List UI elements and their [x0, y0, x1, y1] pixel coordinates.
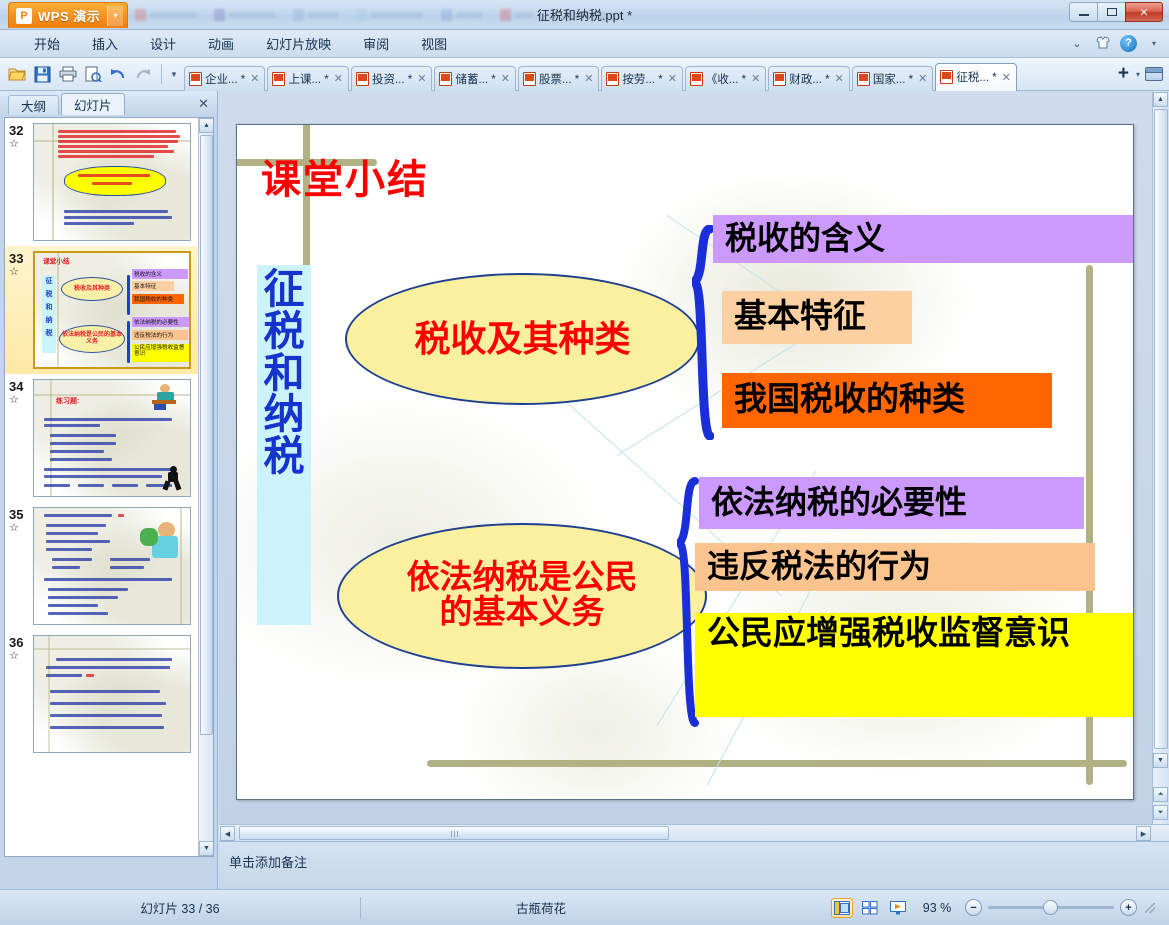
animation-star-icon: ☆ [9, 138, 33, 151]
thumbnail-image-35 [33, 507, 191, 625]
menu-item-start[interactable]: 开始 [18, 31, 76, 56]
brace-top [692, 225, 709, 440]
theme-name: 古瓶荷花 [361, 898, 721, 917]
notes-pane[interactable]: 单击添加备注 [219, 841, 1169, 889]
title-bar: P WPS 演示 ▾ 征税和纳税.ppt * ✕ [0, 0, 1169, 30]
doc-tab-0[interactable]: 企业... * ✕ [184, 66, 265, 91]
toolbar-separator [161, 64, 162, 84]
menu-item-slideshow[interactable]: 幻灯片放映 [250, 31, 347, 56]
customize-caret-icon[interactable]: ▼ [167, 70, 181, 79]
doc-tab-label: 按劳... * [622, 71, 662, 87]
doc-tab-label: 征税... * [956, 69, 996, 85]
menu-bar: 开始 插入 设计 动画 幻灯片放映 审阅 视图 ⌄ ? ▾ [0, 30, 1169, 58]
animation-star-icon: ☆ [9, 522, 33, 535]
slideshow-icon[interactable] [887, 898, 909, 918]
slide-scroll-down-button[interactable]: ▼ [1153, 753, 1168, 768]
document-tab-strip: 企业... * ✕ 上课... * ✕ 投资... * ✕ 储蓄... * ✕ … [184, 58, 1019, 91]
ellipse-tax-types[interactable]: 税收及其种类 [345, 273, 700, 405]
slide-scroll-left-button[interactable]: ◀ [220, 826, 235, 841]
skin-icon[interactable] [1094, 34, 1112, 52]
slide-title[interactable]: 课堂小结 [261, 147, 429, 205]
doc-tab-2[interactable]: 投资... * ✕ [351, 66, 432, 91]
slide-sorter-icon[interactable] [859, 898, 881, 918]
menu-item-design[interactable]: 设计 [134, 31, 192, 56]
slide-editing-area: 课堂小结 征税和纳税 税收及其种类 依法纳税是公民的基本义务 税收的含义 基本特… [219, 91, 1169, 841]
doc-tab-1[interactable]: 上课... * ✕ [267, 66, 348, 91]
ppt-file-icon [773, 72, 786, 86]
chevron-down-icon[interactable]: ⌄ [1068, 34, 1086, 52]
doc-tab-5[interactable]: 按劳... * ✕ [601, 66, 682, 91]
redo-icon[interactable] [131, 63, 154, 86]
zoom-slider[interactable] [988, 906, 1114, 909]
undo-icon[interactable] [106, 63, 129, 86]
thumbnail-row-32[interactable]: 32 ☆ [5, 118, 199, 246]
quick-access-toolbar: ▼ 企业... * ✕ 上课... * ✕ 投资... * ✕ 储蓄... * … [0, 58, 1169, 91]
minimize-button[interactable] [1069, 2, 1098, 22]
box-basic-features[interactable]: 基本特征 [722, 291, 912, 344]
animation-star-icon: ☆ [9, 266, 33, 279]
ppt-file-icon [857, 72, 870, 86]
current-slide[interactable]: 课堂小结 征税和纳税 税收及其种类 依法纳税是公民的基本义务 税收的含义 基本特… [236, 124, 1134, 800]
doc-tab-label: 《收... * [706, 71, 746, 87]
ppt-file-icon [940, 70, 953, 84]
thumbnail-rows: 32 ☆ [5, 118, 199, 758]
print-preview-icon[interactable] [81, 63, 104, 86]
box-tax-definition[interactable]: 税收的含义 [713, 215, 1133, 263]
menu-bar-right-tools: ⌄ ? ▾ [1068, 34, 1163, 52]
zoom-in-button[interactable]: + [1120, 899, 1137, 916]
thumbnail-image-32 [33, 123, 191, 241]
thumb-number: 32 [9, 123, 23, 138]
thumb-number: 35 [9, 507, 23, 522]
ppt-file-icon [189, 72, 202, 86]
ppt-file-icon [606, 72, 619, 86]
thumb-scroll-down-button[interactable]: ▼ [199, 841, 214, 856]
panel-close-icon[interactable]: ✕ [198, 96, 209, 112]
slide-counter: 幻灯片 33 / 36 [0, 898, 360, 917]
save-icon[interactable] [31, 63, 54, 86]
box-tax-categories[interactable]: 我国税收的种类 [722, 373, 1052, 428]
window-controls: ✕ [1070, 2, 1163, 22]
thumbnail-image-34: 练习题: [33, 379, 191, 497]
menu-item-view[interactable]: 视图 [405, 31, 463, 56]
doc-tab-close-icon[interactable]: ✕ [334, 72, 343, 85]
box-supervision[interactable]: 公民应增强税收监督意识 [695, 613, 1134, 717]
status-bar: 幻灯片 33 / 36 古瓶荷花 93 % [0, 889, 1169, 925]
doc-tab-close-icon[interactable]: ✕ [584, 72, 593, 85]
doc-tab-label: 财政... * [789, 71, 829, 87]
window-list-icon[interactable] [1145, 67, 1163, 81]
slide-vertical-scrollbar[interactable]: ▲ ▼ ⏶ ⏷ [1152, 91, 1169, 841]
doc-tab-close-icon[interactable]: ✕ [835, 72, 844, 85]
doc-tab-label: 国家... * [873, 71, 913, 87]
animation-star-icon: ☆ [9, 650, 33, 663]
menu-item-insert[interactable]: 插入 [76, 31, 134, 56]
previous-slide-button[interactable]: ⏶ [1153, 787, 1168, 802]
doc-tab-label: 股票... * [539, 71, 579, 87]
dropdown-icon[interactable]: ▾ [1145, 34, 1163, 52]
ellipse-citizen-duty[interactable]: 依法纳税是公民的基本义务 [337, 523, 707, 669]
normal-view-icon[interactable] [831, 898, 853, 918]
zoom-controls: 93 % − + [831, 898, 1169, 918]
new-tab-button[interactable]: + [1118, 63, 1129, 85]
animation-star-icon: ☆ [9, 394, 33, 407]
slide-hscroll-thumb[interactable] [239, 826, 669, 840]
ppt-file-icon [356, 72, 369, 86]
slide-vscroll-thumb[interactable] [1154, 109, 1168, 749]
panel-tab-strip: 大纲 幻灯片 ✕ [0, 91, 217, 115]
doc-tab-8[interactable]: 国家... * ✕ [852, 66, 933, 91]
resize-grip-icon[interactable] [1145, 903, 1155, 913]
thumb-vertical-label: 征税和纳税 [42, 275, 56, 353]
doc-tab-label: 投资... * [372, 71, 412, 87]
slide-navigator-panel: 大纲 幻灯片 ✕ 32 ☆ [0, 91, 218, 889]
doc-tab-4[interactable]: 股票... * ✕ [518, 66, 599, 91]
doc-tab-3[interactable]: 储蓄... * ✕ [434, 66, 515, 91]
tab-strip-right-tools: + ▾ [1114, 63, 1169, 85]
help-icon[interactable]: ? [1120, 35, 1137, 52]
vertical-title-label[interactable]: 征税和纳税 [257, 265, 311, 625]
thumbnail-scrollbar[interactable]: ▲ ▼ [198, 118, 213, 856]
doc-tab-close-icon[interactable]: ✕ [417, 72, 426, 85]
slide-scroll-right-button[interactable]: ▶ [1136, 826, 1151, 841]
slide-thumbnail-list[interactable]: 32 ☆ [4, 117, 214, 857]
doc-tab-label: 储蓄... * [455, 71, 495, 87]
doc-tab-label: 上课... * [288, 71, 328, 87]
slide-horizontal-scrollbar[interactable]: ◀ ▶ [219, 824, 1169, 841]
doc-tab-label: 企业... * [205, 71, 245, 87]
ppt-file-icon [272, 72, 285, 86]
doc-tab-close-icon[interactable]: ✕ [918, 72, 927, 85]
thumbnail-row-35[interactable]: 35 ☆ [5, 502, 199, 630]
doc-tab-7[interactable]: 财政... * ✕ [768, 66, 849, 91]
slide-scroll-up-button[interactable]: ▲ [1153, 92, 1168, 107]
thumb-number: 36 [9, 635, 23, 650]
close-button[interactable]: ✕ [1125, 2, 1163, 22]
tab-slides[interactable]: 幻灯片 [61, 93, 125, 115]
thumb-number: 33 [9, 251, 23, 266]
thumb-scroll-thumb[interactable] [200, 135, 213, 735]
thumbnail-row-36[interactable]: 36 ☆ [5, 630, 199, 758]
doc-tab-close-icon[interactable]: ✕ [751, 72, 760, 85]
menu-item-animation[interactable]: 动画 [192, 31, 250, 56]
doc-tab-6[interactable]: 《收... * ✕ [685, 66, 766, 91]
menu-item-review[interactable]: 审阅 [347, 31, 405, 56]
doc-tab-close-icon[interactable]: ✕ [668, 72, 677, 85]
thumbnail-image-33: 课堂小结 征税和纳税 税收及其种类 依法纳税是公民的基本义务 税收的含义 基本特… [33, 251, 191, 369]
doc-tab-close-icon[interactable]: ✕ [250, 72, 259, 85]
ppt-file-icon [523, 72, 536, 86]
thumb-heading: 课堂小结 [43, 257, 70, 267]
brace-bottom [677, 477, 694, 727]
document-title: 征税和纳税.ppt * [0, 5, 1169, 24]
doc-tab-close-icon[interactable]: ✕ [1002, 71, 1011, 84]
maximize-button[interactable] [1097, 2, 1126, 22]
next-slide-button[interactable]: ⏷ [1153, 805, 1168, 820]
box-violations[interactable]: 违反税法的行为 [695, 543, 1095, 591]
doc-tab-close-icon[interactable]: ✕ [501, 72, 510, 85]
doc-tab-9-active[interactable]: 征税... * ✕ [935, 63, 1016, 91]
thumbnail-row-33-selected[interactable]: 33 ☆ 课堂小结 征税和纳税 税收及其种类 依法纳税是公民的基本义务 税收的含… [5, 246, 199, 374]
thumbnail-row-34[interactable]: 34 ☆ 练习题: [5, 374, 199, 502]
box-supervision-text: 公民应增强税收监督意识 [707, 617, 1070, 653]
open-icon[interactable] [6, 63, 29, 86]
vine-decoration-bottom [427, 760, 1127, 767]
ppt-file-icon [439, 72, 452, 86]
thumb-number: 34 [9, 379, 23, 394]
thumb-scroll-up-button[interactable]: ▲ [199, 118, 214, 133]
thumbnail-image-36 [33, 635, 191, 753]
new-tab-caret-icon[interactable]: ▾ [1131, 70, 1145, 79]
box-necessity[interactable]: 依法纳税的必要性 [699, 477, 1084, 529]
print-icon[interactable] [56, 63, 79, 86]
zoom-slider-knob[interactable] [1043, 900, 1058, 915]
ppt-file-icon [690, 72, 703, 86]
zoom-out-button[interactable]: − [965, 899, 982, 916]
zoom-level[interactable]: 93 % [915, 901, 959, 915]
tab-outline[interactable]: 大纲 [8, 95, 59, 115]
thumb-heading: 练习题: [56, 396, 79, 406]
notes-placeholder: 单击添加备注 [229, 852, 307, 871]
